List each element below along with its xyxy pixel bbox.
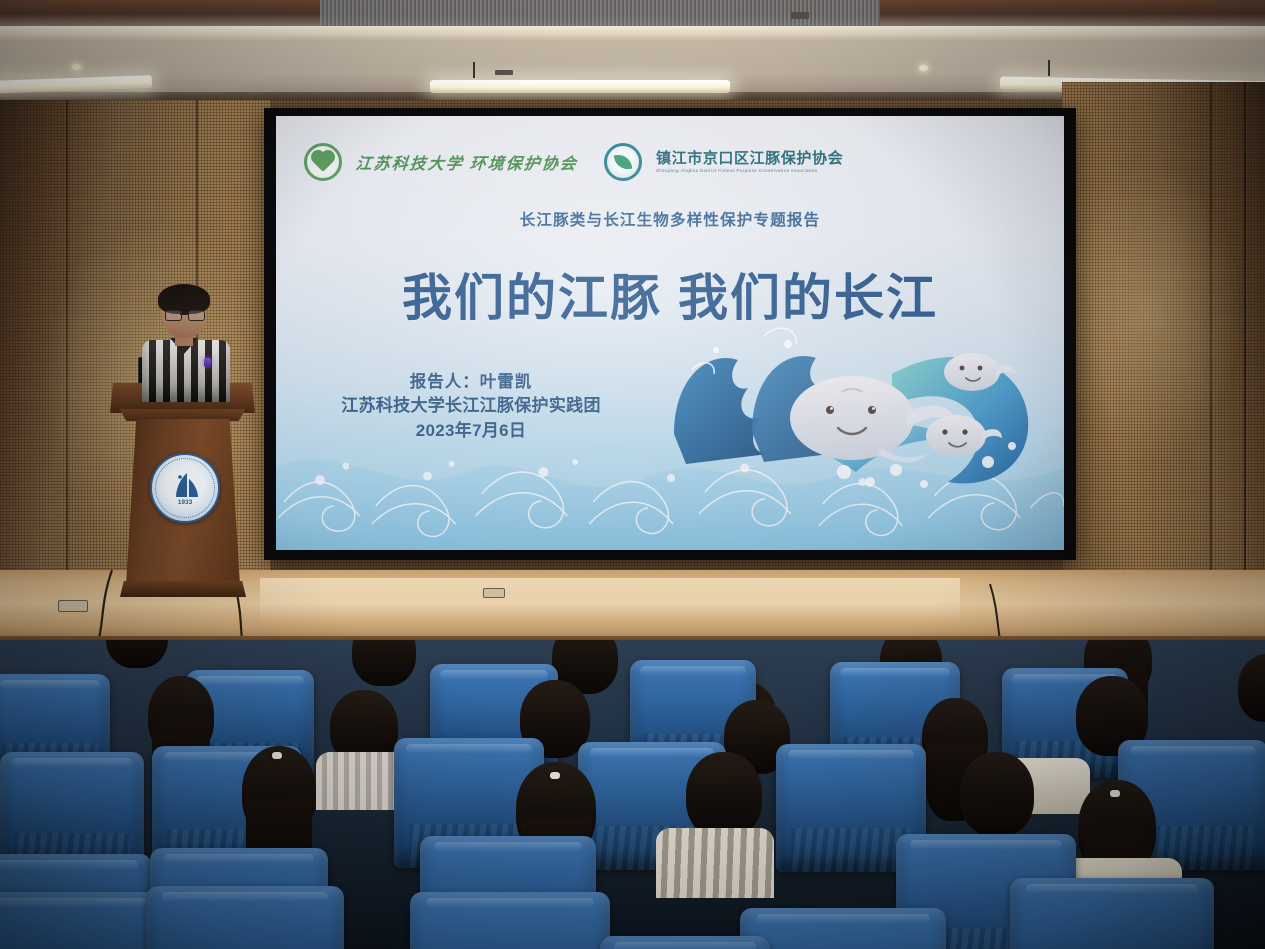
presenter-badge (204, 358, 211, 367)
slide-presenter-name: 报告人：叶雷凯 (306, 371, 636, 394)
hair-tie (550, 772, 560, 779)
slide-logo-block-teal: 镇江市京口区江豚保护协会 Zhenjiang Jingkou District … (656, 151, 843, 174)
seat[interactable] (410, 892, 610, 949)
ceiling-spot-2 (919, 65, 928, 71)
porpoise-circle-icon (604, 143, 642, 181)
seat[interactable] (146, 886, 344, 949)
seat[interactable] (740, 908, 946, 949)
auditorium-scene: 江苏科技大学 环境保护协会 镇江市京口区江豚保护协会 Zhenjiang Jin… (0, 0, 1265, 949)
audience-head (686, 752, 762, 838)
audience-head (352, 640, 416, 686)
ceiling-light-stem-2 (473, 62, 475, 78)
slide-presenter-block: 报告人：叶雷凯 江苏科技大学长江江豚保护实践团 2023年7月6日 (306, 371, 636, 443)
panel-seam-right-2 (1244, 82, 1246, 638)
ceiling-light-2 (430, 80, 730, 93)
ceiling-smoke-detector (495, 70, 513, 75)
acoustic-panel-texture-right (1062, 82, 1265, 638)
sailboat-icon: 1933 (168, 471, 202, 505)
seat[interactable] (1010, 878, 1214, 949)
slide-main-title: 我们的江豚 我们的长江 (276, 258, 1064, 330)
slide-logo-text-teal-en: Zhenjiang Jingkou District Finless Porpo… (656, 169, 843, 174)
audience-area (0, 640, 1265, 949)
seat[interactable] (0, 892, 166, 949)
stage-floor-device (58, 600, 88, 612)
audience-shirt (656, 828, 774, 898)
glasses-lens-right (188, 310, 205, 321)
audience-head (148, 676, 214, 756)
presenter-person (140, 288, 232, 398)
leaf-shape (614, 153, 633, 172)
slide-presenter-org: 江苏科技大学长江江豚保护实践团 (306, 394, 636, 418)
emblem-year-text: 1933 (178, 499, 193, 505)
projection-screen: 江苏科技大学 环境保护协会 镇江市京口区江豚保护协会 Zhenjiang Jin… (276, 116, 1064, 550)
ceiling-light-stem-3 (1048, 60, 1050, 76)
seat[interactable] (600, 936, 770, 949)
glasses-icon (165, 310, 203, 319)
slide-logo-text-teal: 镇江市京口区江豚保护协会 (656, 151, 843, 166)
ceiling-spot-1 (72, 64, 81, 70)
wall-panel-right (1062, 82, 1265, 638)
podium: 1933 (110, 383, 255, 609)
panel-seam-left-1 (66, 100, 68, 620)
glasses-bridge (180, 314, 188, 315)
projection-screen-frame: 江苏科技大学 环境保护协会 镇江市京口区江豚保护协会 Zhenjiang Jin… (264, 108, 1076, 560)
glasses-lens-left (165, 310, 182, 321)
heart-shape (313, 152, 333, 172)
slide-logo-text-green: 江苏科技大学 环境保护协会 (355, 150, 580, 174)
podium-base (120, 581, 246, 597)
heart-leaf-circle-icon (304, 143, 342, 181)
slide-presenter-date: 2023年7月6日 (306, 419, 636, 443)
ceiling-sensor (791, 12, 809, 19)
hair-tie (272, 752, 282, 759)
audience-head (242, 746, 316, 838)
slide-logo-row: 江苏科技大学 环境保护协会 镇江市京口区江豚保护协会 Zhenjiang Jin… (304, 144, 1036, 180)
university-seal-emblem: 1933 (150, 453, 220, 523)
panel-seam-right-1 (1210, 82, 1212, 638)
audience-head (960, 752, 1034, 836)
hair-tie (1110, 790, 1120, 797)
porpoise-illustration (656, 314, 1056, 524)
slide-subtitle: 长江豚类与长江生物多样性保护专题报告 (276, 208, 1064, 230)
